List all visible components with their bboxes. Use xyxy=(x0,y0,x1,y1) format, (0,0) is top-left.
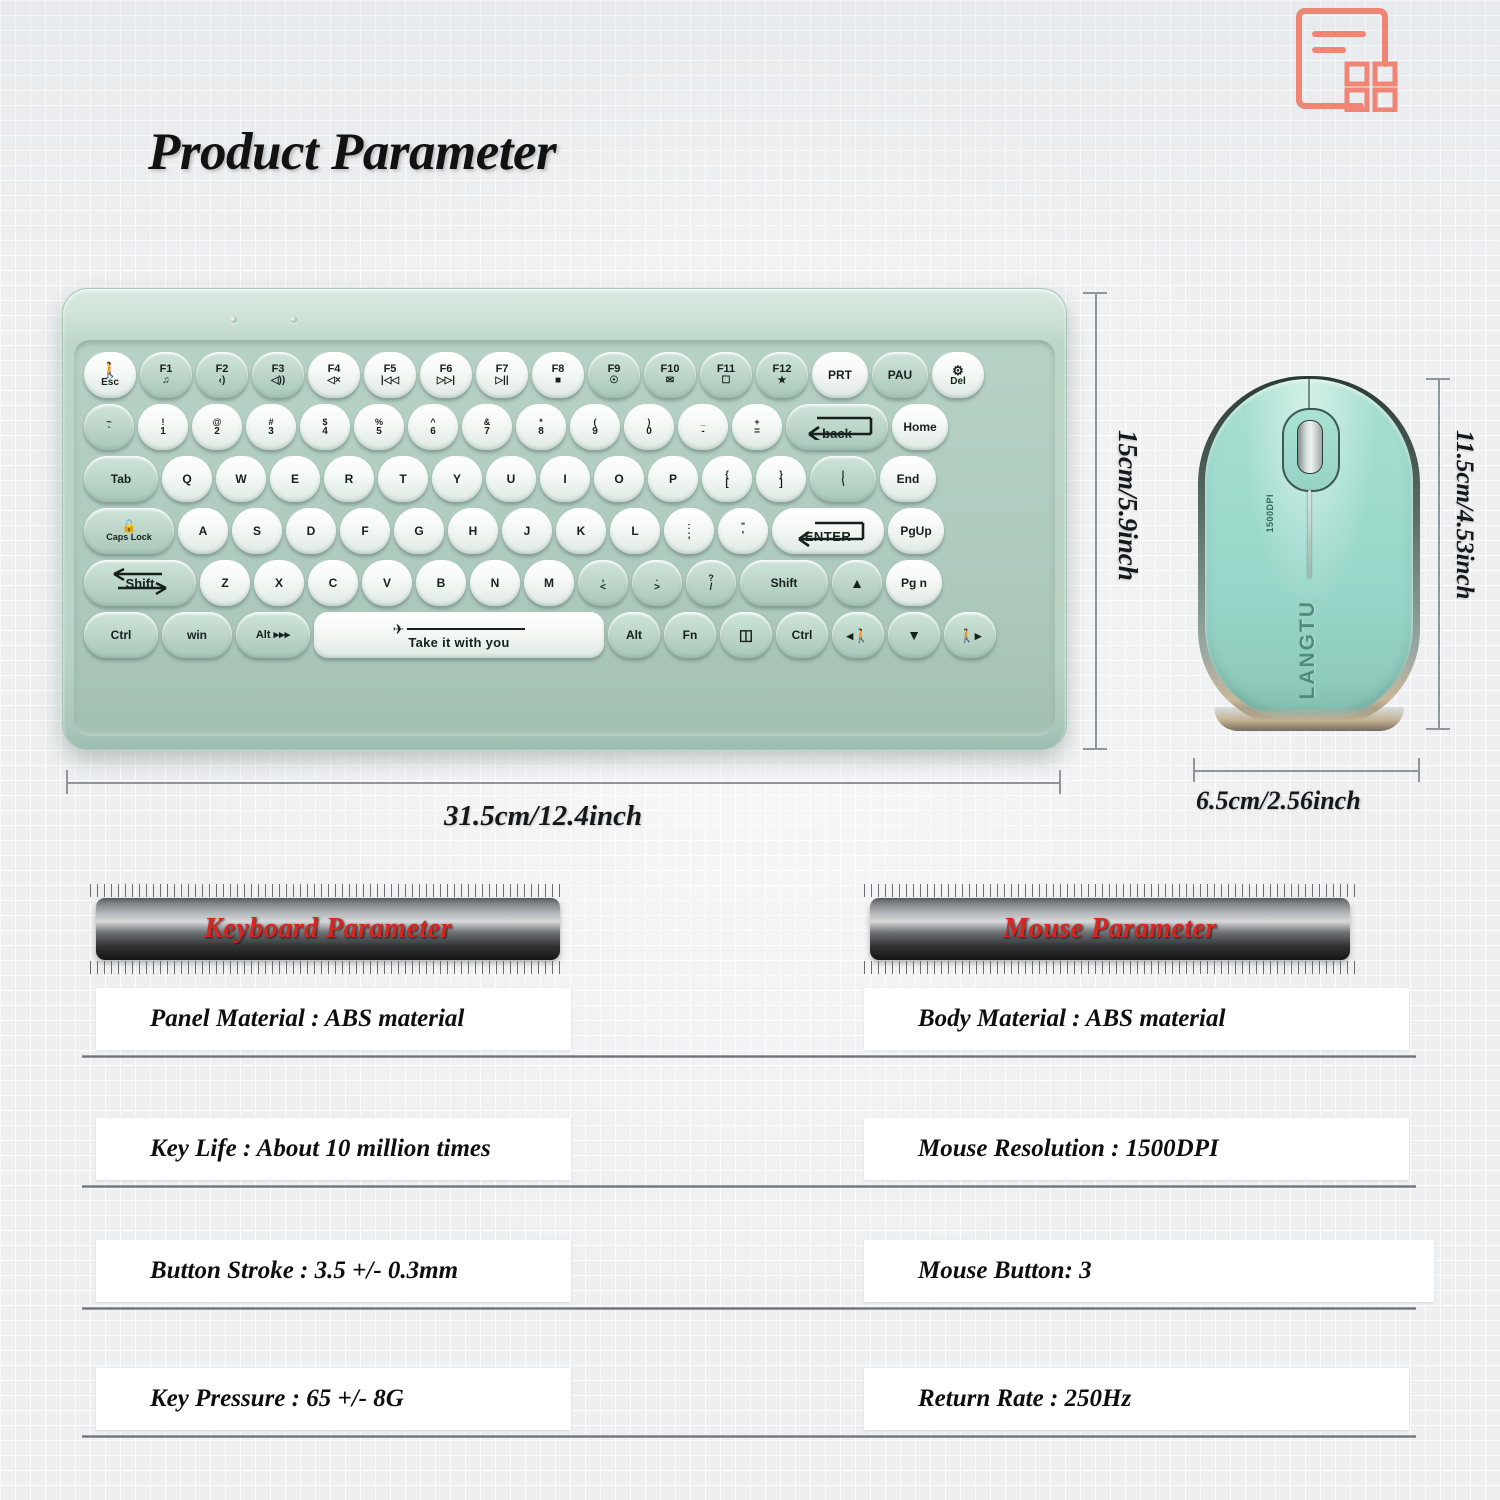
key-0[interactable]: )0 xyxy=(624,404,674,450)
keyboard-spec-row: Panel Material : ABS material xyxy=(96,988,571,1050)
key-f5[interactable]: F5|◁◁ xyxy=(364,352,416,398)
kb-height-cap-top xyxy=(1083,292,1107,294)
document-grid-logo-icon xyxy=(1283,8,1403,112)
key-b[interactable]: B xyxy=(416,560,466,606)
keyboard-image: 🚶 Esc F1♫ F2‹) F3◁)) F4◁× F5|◁◁ F6▷▷| F7… xyxy=(62,288,1067,750)
key-4[interactable]: $4 xyxy=(300,404,350,450)
mouse-scroll-wheel[interactable] xyxy=(1297,420,1323,474)
key-page-up[interactable]: PgUp xyxy=(888,508,944,554)
key-x[interactable]: X xyxy=(254,560,304,606)
mouse-center-groove xyxy=(1308,490,1311,578)
key-s[interactable]: S xyxy=(232,508,282,554)
spacebar-slogan: Take it with you xyxy=(408,636,509,649)
key-quote[interactable]: "' xyxy=(718,508,768,554)
key-delete[interactable]: ⚙ Del xyxy=(932,352,984,398)
banner-ticks-bottom xyxy=(90,961,566,974)
spec-divider xyxy=(860,1185,1416,1188)
mouse-spec-row: Return Rate : 250Hz xyxy=(864,1368,1409,1430)
key-ctrl-right[interactable]: Ctrl xyxy=(776,612,828,658)
key-o[interactable]: O xyxy=(594,456,644,502)
lock-icon: 🔓 xyxy=(122,520,137,532)
mouse-spec-row: Body Material : ABS material xyxy=(864,988,1409,1050)
key-a[interactable]: A xyxy=(178,508,228,554)
spec-divider xyxy=(82,1307,934,1310)
mouse-height-cap-bottom xyxy=(1426,728,1450,730)
key-g[interactable]: G xyxy=(394,508,444,554)
keyboard-spec-row: Key Life : About 10 million times xyxy=(96,1118,571,1180)
spec-text: Button Stroke : 3.5 +/- 0.3mm xyxy=(96,1257,458,1285)
keyboard-parameter-banner: Keyboard Parameter xyxy=(96,898,560,960)
key-m[interactable]: M xyxy=(524,560,574,606)
keyboard-spec-row: Button Stroke : 3.5 +/- 0.3mm xyxy=(96,1240,571,1302)
key-period[interactable]: .> xyxy=(632,560,682,606)
key-n[interactable]: N xyxy=(470,560,520,606)
banner-ticks-bottom xyxy=(864,961,1356,974)
key-shift-left[interactable]: Shift xyxy=(84,560,196,606)
key-j[interactable]: J xyxy=(502,508,552,554)
menu-icon: ◫ xyxy=(739,628,753,643)
key-r[interactable]: R xyxy=(324,456,374,502)
key-y[interactable]: Y xyxy=(432,456,482,502)
key-p[interactable]: P xyxy=(648,456,698,502)
key-arrow-left[interactable]: ◂🚶 xyxy=(832,612,884,658)
mouse-height-label: 11.5cm/4.53inch xyxy=(1450,430,1478,599)
spacebar-rule xyxy=(407,628,525,630)
mouse-width-cap-right xyxy=(1418,758,1420,782)
banner-ticks-top xyxy=(864,884,1356,897)
keyboard-height-label: 15cm/5.9inch xyxy=(1112,430,1143,581)
key-9[interactable]: (9 xyxy=(570,404,620,450)
led-indicator-1 xyxy=(230,316,237,323)
spec-text: Body Material : ABS material xyxy=(864,1005,1225,1033)
key-v[interactable]: V xyxy=(362,560,412,606)
mouse-base xyxy=(1214,707,1404,731)
key-tab[interactable]: Tab xyxy=(84,456,158,502)
mouse-dpi-label: 1500DPI xyxy=(1265,494,1307,533)
key-arrow-right[interactable]: 🚶▸ xyxy=(944,612,996,658)
key-print[interactable]: PRT xyxy=(812,352,868,398)
key-arrow-up[interactable]: ▲ xyxy=(832,560,882,606)
key-enter[interactable]: ENTER xyxy=(772,508,884,554)
mouse-image: 1500DPI LANGTU xyxy=(1196,372,1422,732)
key-esc[interactable]: 🚶 Esc xyxy=(84,352,136,398)
mouse-width-dimension-line xyxy=(1193,770,1420,772)
spec-text: Key Pressure : 65 +/- 8G xyxy=(96,1385,404,1413)
spec-text: Return Rate : 250Hz xyxy=(864,1385,1131,1413)
key-8[interactable]: *8 xyxy=(516,404,566,450)
key-semicolon[interactable]: :; xyxy=(664,508,714,554)
key-alt-right[interactable]: Alt xyxy=(608,612,660,658)
key-3[interactable]: #3 xyxy=(246,404,296,450)
mouse-parameter-banner: Mouse Parameter xyxy=(870,898,1350,960)
key-ctrl-left[interactable]: Ctrl xyxy=(84,612,158,658)
mouse-brand-label: LANGTU xyxy=(1296,600,1320,700)
key-backslash[interactable]: |\ xyxy=(810,456,876,502)
spec-text: Panel Material : ABS material xyxy=(96,1005,464,1033)
key-k[interactable]: K xyxy=(556,508,606,554)
key-1[interactable]: !1 xyxy=(138,404,188,450)
spec-divider xyxy=(82,1435,934,1438)
key-z[interactable]: Z xyxy=(200,560,250,606)
spec-divider xyxy=(860,1307,1416,1310)
key-shift-right[interactable]: Shift xyxy=(740,560,828,606)
key-backtick[interactable]: ~` xyxy=(84,404,134,450)
mouse-width-cap-left xyxy=(1193,758,1195,782)
banner-ticks-top xyxy=(90,884,566,897)
key-e[interactable]: E xyxy=(270,456,320,502)
key-f7[interactable]: F7▷|| xyxy=(476,352,528,398)
key-l[interactable]: L xyxy=(610,508,660,554)
trash-icon: ⚙ xyxy=(952,364,964,377)
mouse-banner-label: Mouse Parameter xyxy=(1003,913,1217,945)
keyboard-spec-row: Key Pressure : 65 +/- 8G xyxy=(96,1368,571,1430)
spec-divider xyxy=(82,1185,934,1188)
key-f4[interactable]: F4◁× xyxy=(308,352,360,398)
key-u[interactable]: U xyxy=(486,456,536,502)
keyboard-row-zxcv: Shift Z X C V B N M ,< .> ?/ Shift ▲ Pg … xyxy=(84,560,942,606)
keyboard-width-label: 31.5cm/12.4inch xyxy=(444,800,642,833)
key-label: Esc xyxy=(101,378,119,388)
mouse-height-cap-top xyxy=(1426,378,1450,380)
key-bracket-left[interactable]: {[ xyxy=(702,456,752,502)
key-equals[interactable]: += xyxy=(732,404,782,450)
key-6[interactable]: ^6 xyxy=(408,404,458,450)
key-home[interactable]: Home xyxy=(892,404,948,450)
key-t[interactable]: T xyxy=(378,456,428,502)
key-d[interactable]: D xyxy=(286,508,336,554)
key-backspace[interactable]: back xyxy=(786,404,888,450)
spec-text: Mouse Resolution : 1500DPI xyxy=(864,1135,1219,1163)
run-icon: 🚶 xyxy=(101,363,120,378)
mouse-width-label: 6.5cm/2.56inch xyxy=(1196,786,1361,816)
key-caps-lock[interactable]: 🔓 Caps Lock xyxy=(84,508,174,554)
key-h[interactable]: H xyxy=(448,508,498,554)
spec-text: Key Life : About 10 million times xyxy=(96,1135,491,1163)
key-i[interactable]: I xyxy=(540,456,590,502)
kb-width-cap-right xyxy=(1059,770,1061,794)
key-bracket-right[interactable]: }] xyxy=(756,456,806,502)
key-slash[interactable]: ?/ xyxy=(686,560,736,606)
key-c[interactable]: C xyxy=(308,560,358,606)
key-f1[interactable]: F1♫ xyxy=(140,352,192,398)
key-f12[interactable]: F12★ xyxy=(756,352,808,398)
arrow-down-icon: ▼ xyxy=(907,628,921,642)
key-f[interactable]: F xyxy=(340,508,390,554)
keyboard-row-numbers: ~` !1 @2 #3 $4 %5 ^6 &7 *8 (9 )0 _- += b… xyxy=(84,404,948,450)
key-minus[interactable]: _- xyxy=(678,404,728,450)
key-f8[interactable]: F8■ xyxy=(532,352,584,398)
key-f3[interactable]: F3◁)) xyxy=(252,352,304,398)
keyboard-width-dimension-line xyxy=(66,782,1061,784)
page-title: Product Parameter xyxy=(148,122,556,182)
keyboard-height-dimension-line xyxy=(1095,292,1097,750)
kb-height-cap-bottom xyxy=(1083,748,1107,750)
key-f2[interactable]: F2‹) xyxy=(196,352,248,398)
arrow-up-icon: ▲ xyxy=(850,576,864,590)
key-f9[interactable]: F9☉ xyxy=(588,352,640,398)
key-menu[interactable]: ◫ xyxy=(720,612,772,658)
airplane-icon: ✈ xyxy=(393,622,405,636)
key-arrow-down[interactable]: ▼ xyxy=(888,612,940,658)
keyboard-row-qwerty: Tab Q W E R T Y U I O P {[ }] |\ End xyxy=(84,456,936,502)
key-pause[interactable]: PAU xyxy=(872,352,928,398)
keyboard-row-bottom: Ctrl win Alt ▸▸▸ ✈ Take it with you Alt … xyxy=(84,612,996,658)
key-f10[interactable]: F10✉ xyxy=(644,352,696,398)
key-win[interactable]: win xyxy=(162,612,232,658)
mouse-height-dimension-line xyxy=(1438,378,1440,730)
keyboard-row-function: 🚶 Esc F1♫ F2‹) F3◁)) F4◁× F5|◁◁ F6▷▷| F7… xyxy=(84,352,984,398)
key-fn[interactable]: Fn xyxy=(664,612,716,658)
key-w[interactable]: W xyxy=(216,456,266,502)
key-5[interactable]: %5 xyxy=(354,404,404,450)
led-indicator-2 xyxy=(290,316,297,323)
key-page-down[interactable]: Pg n xyxy=(886,560,942,606)
key-spacebar[interactable]: ✈ Take it with you xyxy=(314,612,604,658)
keyboard-row-asdf: 🔓 Caps Lock A S D F G H J K L :; "' ENTE… xyxy=(84,508,944,554)
kb-width-cap-left xyxy=(66,770,68,794)
key-7[interactable]: &7 xyxy=(462,404,512,450)
keyboard-banner-label: Keyboard Parameter xyxy=(204,913,452,945)
arrow-right-icon: 🚶▸ xyxy=(959,629,982,642)
spec-divider xyxy=(860,1435,1416,1438)
arrow-left-icon: ◂🚶 xyxy=(847,629,870,642)
key-f6[interactable]: F6▷▷| xyxy=(420,352,472,398)
mouse-spec-row: Mouse Resolution : 1500DPI xyxy=(864,1118,1409,1180)
key-alt-left[interactable]: Alt ▸▸▸ xyxy=(236,612,310,658)
key-q[interactable]: Q xyxy=(162,456,212,502)
spec-text: Mouse Button: 3 xyxy=(864,1257,1092,1285)
key-comma[interactable]: ,< xyxy=(578,560,628,606)
mouse-spec-row: Mouse Button: 3 xyxy=(864,1240,1434,1302)
spec-divider xyxy=(82,1055,934,1058)
key-end[interactable]: End xyxy=(880,456,936,502)
key-2[interactable]: @2 xyxy=(192,404,242,450)
spec-divider xyxy=(860,1055,1416,1058)
key-f11[interactable]: F11☐ xyxy=(700,352,752,398)
